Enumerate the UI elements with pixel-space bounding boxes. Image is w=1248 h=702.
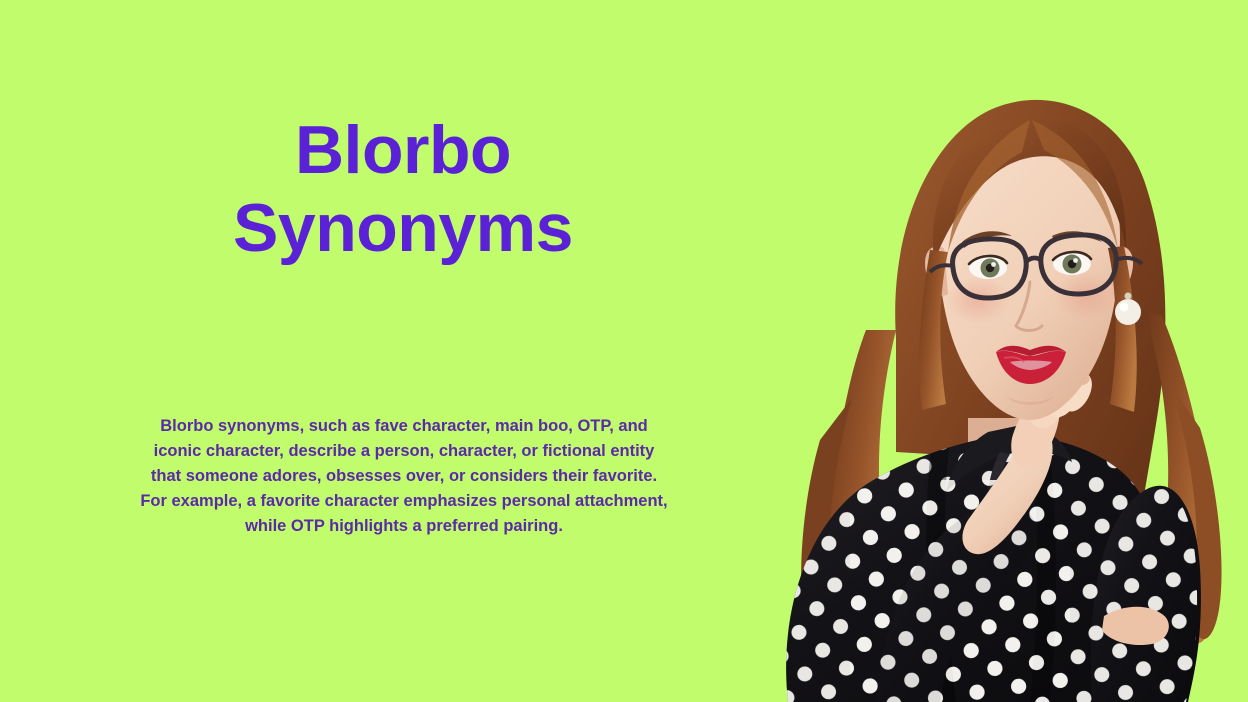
page-title-line-1: Blorbo — [0, 112, 806, 190]
text-column: Blorbo Synonyms Blorbo synonyms, such as… — [0, 0, 700, 702]
raised-arm — [850, 480, 1070, 702]
slide-canvas: Blorbo Synonyms Blorbo synonyms, such as… — [0, 0, 1248, 702]
page-title-line-2: Synonyms — [0, 190, 806, 268]
portrait-photo — [700, 0, 1248, 702]
portrait-illustration — [700, 0, 1248, 702]
page-title: Blorbo Synonyms — [0, 112, 806, 267]
body-paragraph: Blorbo synonyms, such as fave character,… — [140, 414, 668, 539]
